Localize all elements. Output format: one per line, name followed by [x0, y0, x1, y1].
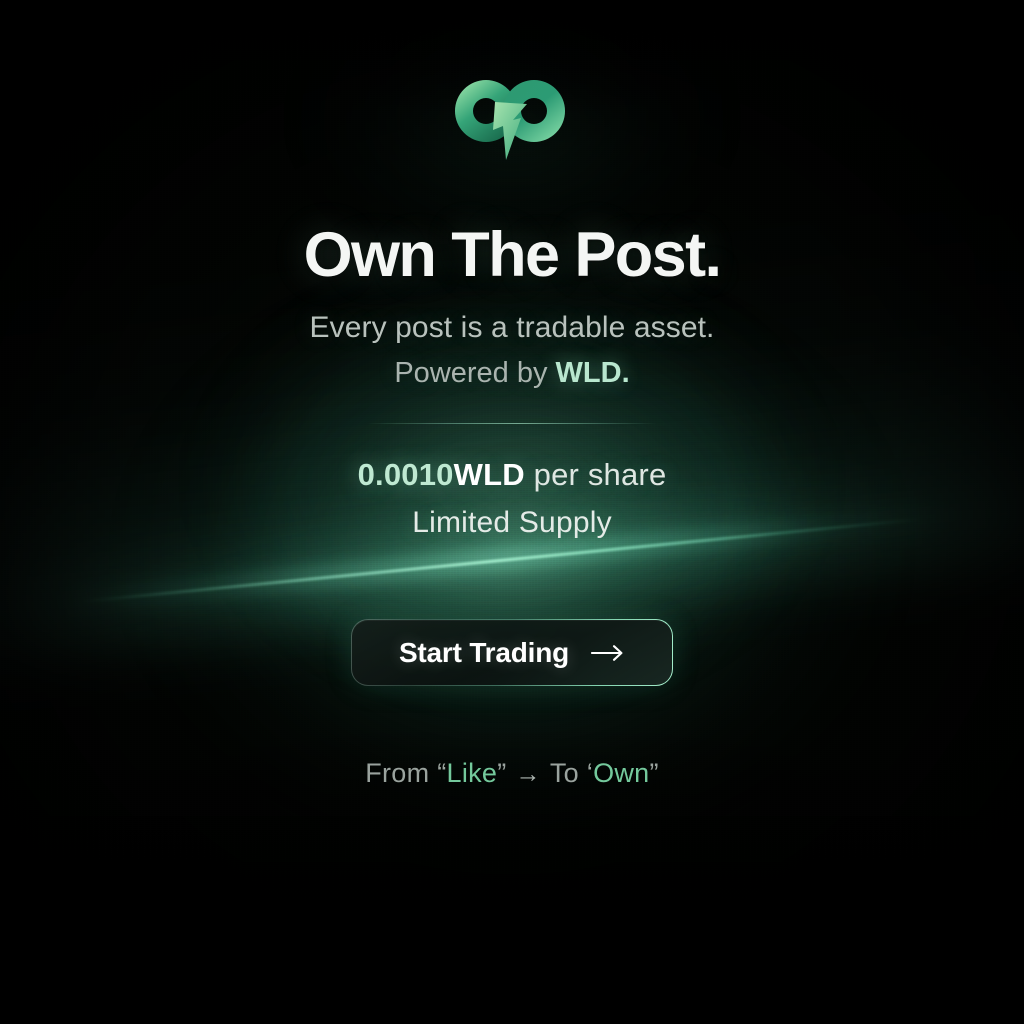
tagline-accent-own: Own — [593, 758, 649, 788]
tagline-quote-close-2: ” — [650, 758, 659, 788]
tagline-accent-like: Like — [447, 758, 498, 788]
section-divider — [367, 423, 657, 424]
wld-token-accent: WLD. — [556, 357, 630, 389]
tagline-prefix: From — [365, 758, 437, 788]
price-per-share: 0.0010WLD per share — [358, 457, 667, 493]
conversion-tagline: From “Like”→To ‘Own” — [365, 758, 659, 789]
promo-hero-canvas: Own The Post. Every post is a tradable a… — [0, 0, 1024, 1024]
start-trading-button-label: Start Trading — [399, 637, 569, 669]
price-value: 0.0010 — [358, 457, 454, 492]
price-currency: WLD — [454, 457, 525, 492]
hero-subtitle-line-2: Powered by WLD. — [394, 357, 629, 390]
arrow-right-icon — [591, 644, 625, 662]
price-unit-label: per share — [525, 457, 667, 492]
hero-content: Own The Post. Every post is a tradable a… — [0, 0, 1024, 1024]
page-title: Own The Post. — [304, 224, 721, 287]
tagline-middle: To — [550, 758, 587, 788]
infinity-chat-logo-icon — [449, 74, 575, 166]
tagline-arrow-icon: → — [507, 760, 550, 788]
supply-label: Limited Supply — [412, 506, 612, 540]
hero-subtitle-line-1: Every post is a tradable asset. — [310, 311, 715, 345]
tagline-quote-open-1: “ — [437, 758, 446, 788]
start-trading-button[interactable]: Start Trading — [351, 619, 673, 686]
tagline-quote-close-1: ” — [497, 758, 506, 788]
powered-by-label: Powered by — [394, 357, 555, 389]
